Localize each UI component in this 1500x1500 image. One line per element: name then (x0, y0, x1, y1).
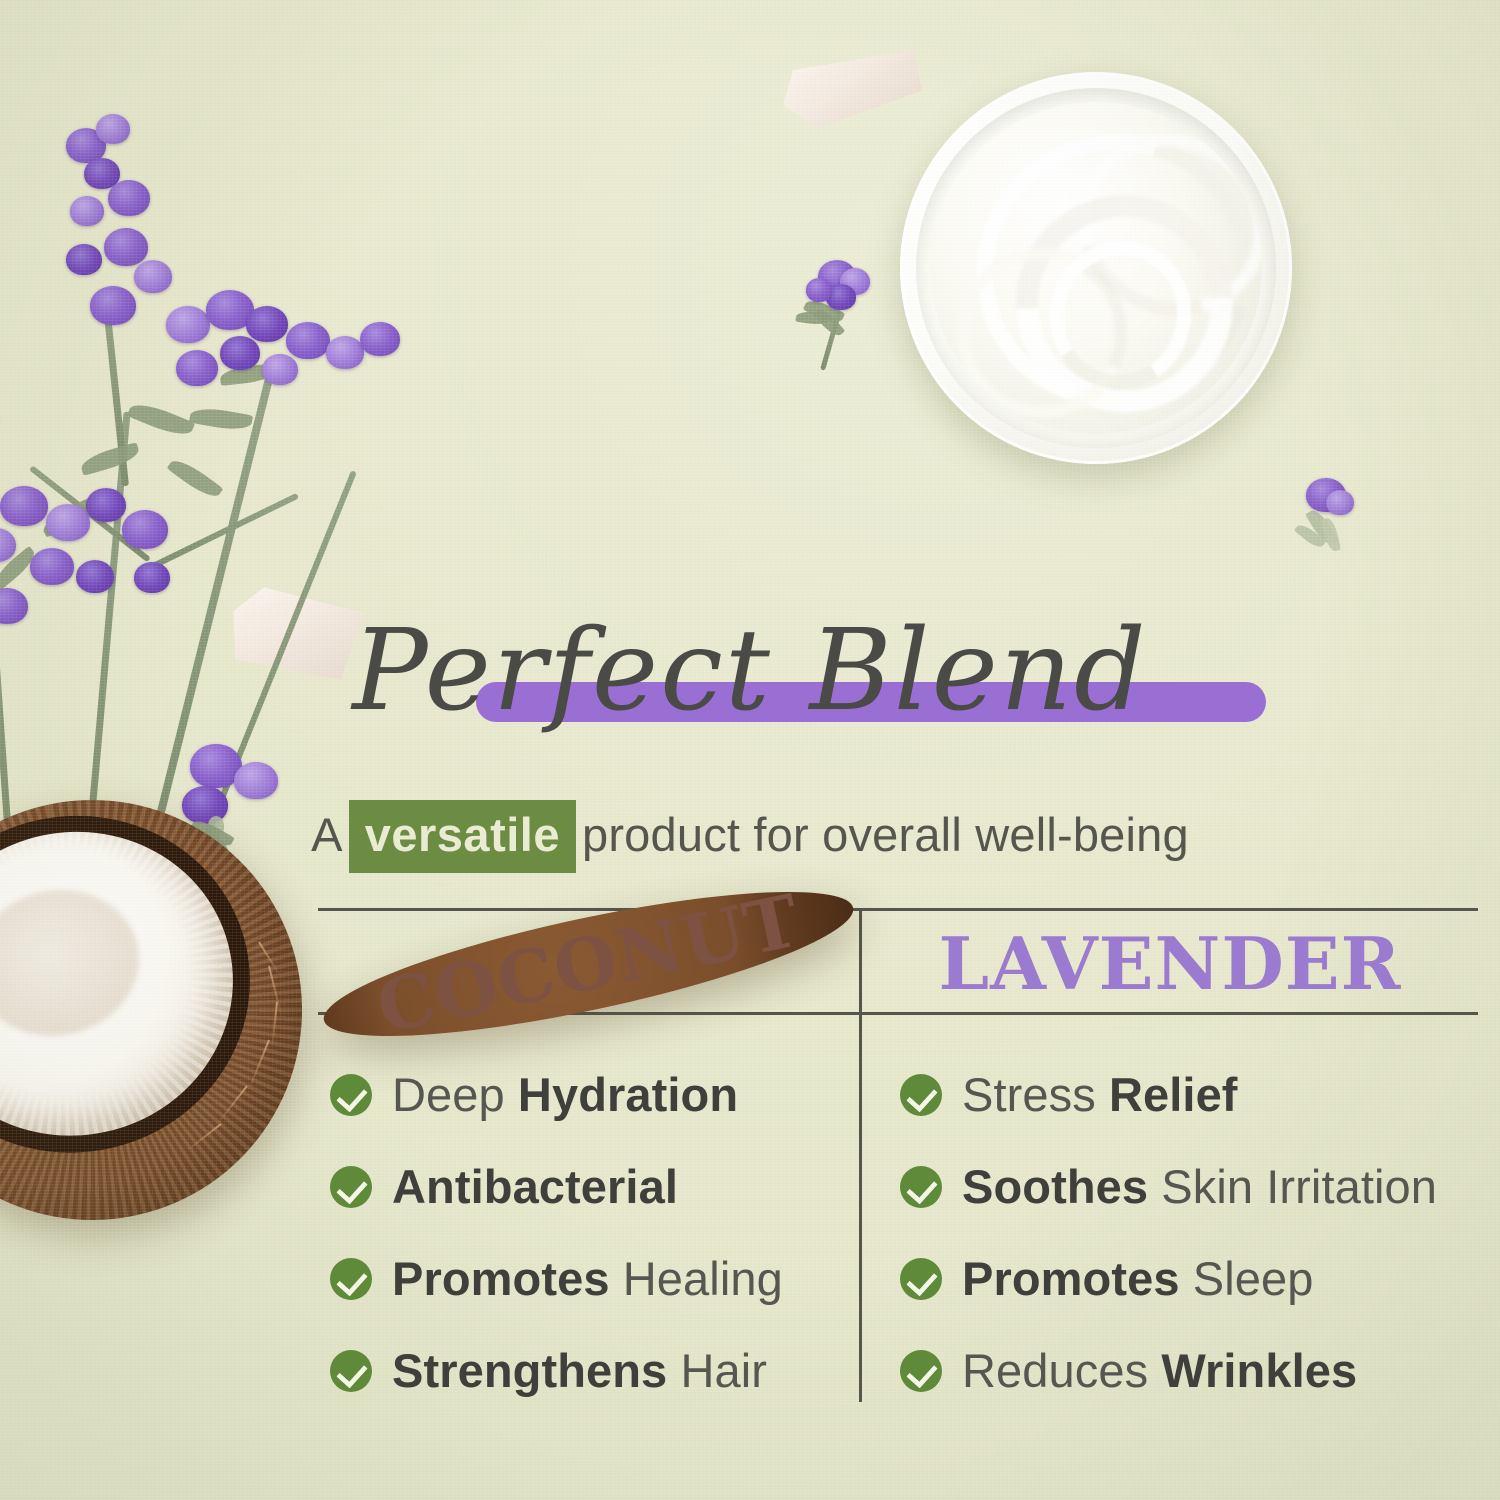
tagline: Aversatileproduct for overall well-being (0, 800, 1500, 873)
check-circle-icon (330, 1258, 372, 1300)
headline-block: Perfect Blend (0, 596, 1500, 766)
product-infographic: Perfect Blend Aversatileproduct for over… (0, 0, 1500, 1500)
check-circle-icon (330, 1350, 372, 1392)
coconut-flake-photo (779, 50, 926, 133)
check-circle-icon (900, 1166, 942, 1208)
check-circle-icon (330, 1074, 372, 1116)
list-item: Antibacterial (330, 1144, 850, 1230)
benefit-text: Deep Hydration (392, 1067, 738, 1123)
cream-surface (930, 102, 1262, 434)
benefit-text: Soothes Skin Irritation (962, 1159, 1437, 1215)
tagline-highlight: versatile (349, 800, 576, 873)
table-rule-top (318, 908, 1478, 911)
benefit-text: Reduces Wrinkles (962, 1343, 1357, 1399)
list-item: Promotes Sleep (900, 1236, 1490, 1322)
list-item: Deep Hydration (330, 1052, 850, 1138)
tagline-after: product for overall well-being (582, 808, 1189, 861)
page-title: Perfect Blend (0, 596, 1500, 746)
benefits-list-lavender: Stress Relief Soothes Skin Irritation Pr… (900, 1052, 1490, 1420)
lavender-sprig-photo (790, 246, 910, 366)
benefit-text: Stress Relief (962, 1067, 1238, 1123)
cream-jar-photo (900, 72, 1292, 464)
benefit-text: Promotes Sleep (962, 1251, 1313, 1307)
benefit-text: Strengthens Hair (392, 1343, 767, 1399)
check-circle-icon (900, 1074, 942, 1116)
benefit-text: Promotes Healing (392, 1251, 783, 1307)
benefit-text: Antibacterial (392, 1159, 678, 1215)
column-heading-lavender: LAVENDER (862, 918, 1478, 1010)
list-item: Soothes Skin Irritation (900, 1144, 1490, 1230)
check-circle-icon (900, 1258, 942, 1300)
list-item: Reduces Wrinkles (900, 1328, 1490, 1414)
check-circle-icon (330, 1166, 372, 1208)
lavender-floret-photo (1292, 470, 1382, 580)
check-circle-icon (900, 1350, 942, 1392)
tagline-before: A (311, 808, 343, 861)
list-item: Stress Relief (900, 1052, 1490, 1138)
list-item: Promotes Healing (330, 1236, 850, 1322)
benefits-list-coconut: Deep Hydration Antibacterial Promotes He… (330, 1052, 850, 1420)
list-item: Strengthens Hair (330, 1328, 850, 1414)
